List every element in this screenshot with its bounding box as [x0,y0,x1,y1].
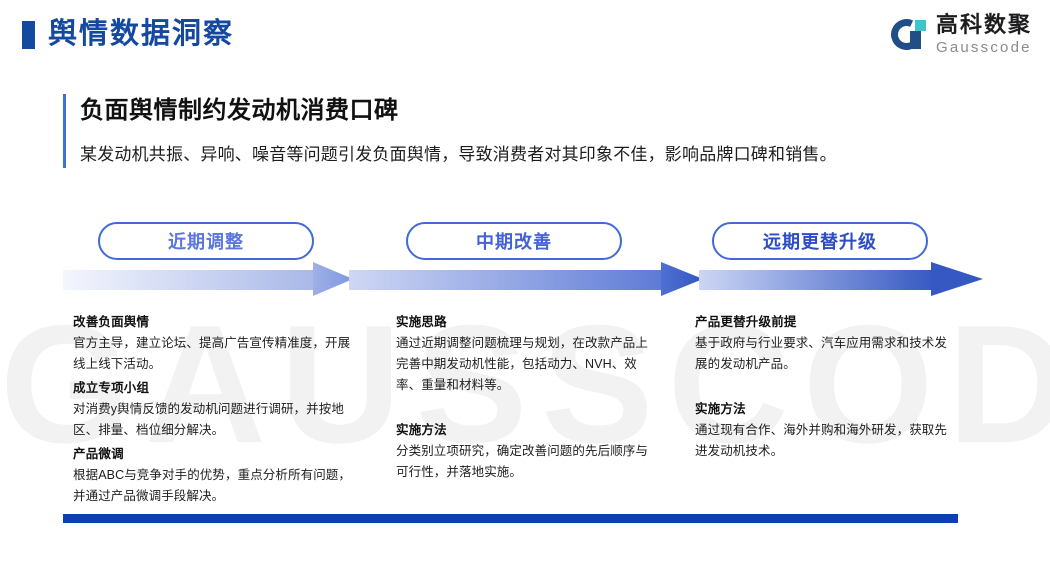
block-body: 官方主导，建立论坛、提高广告宣传精准度，开展线上线下活动。 [73,333,358,375]
block-body: 基于政府与行业要求、汽车应用需求和技术发展的发动机产品。 [695,333,957,375]
column-near-term: 改善负面舆情 官方主导，建立论坛、提高广告宣传精准度，开展线上线下活动。 成立专… [73,312,358,510]
content-block: 改善负面舆情 官方主导，建立论坛、提高广告宣传精准度，开展线上线下活动。 [73,312,358,375]
intro-heading: 负面舆情制约发动机消费口碑 [80,94,963,128]
content-block: 成立专项小组 对消费y舆情反馈的发动机问题进行调研，并按地区、排量、档位细分解决… [73,378,358,441]
slide-header: 舆情数据洞察 高科数聚 Gausscode [0,0,1050,74]
header-bullet-icon [22,21,35,49]
block-spacer [396,399,658,420]
block-title: 实施思路 [396,312,658,333]
block-body: 根据ABC与竞争对手的优势，重点分析所有问题，并通过产品微调手段解决。 [73,465,358,507]
block-spacer [695,378,957,399]
brand-logo-text: 高科数聚 Gausscode [936,14,1032,55]
block-body: 对消费y舆情反馈的发动机问题进行调研，并按地区、排量、档位细分解决。 [73,399,358,441]
brand-name-cn: 高科数聚 [936,14,1032,36]
content-block: 实施方法 分类别立项研究，确定改善问题的先后顺序与可行性，并落地实施。 [396,420,658,483]
brand-name-en: Gausscode [936,40,1032,55]
column-mid-term: 实施思路 通过近期调整问题梳理与规划，在改款产品上完善中期发动机性能，包括动力、… [396,312,658,486]
intro-subheading: 某发动机共振、异响、噪音等问题引发负面舆情，导致消费者对其印象不佳，影响品牌口碑… [80,142,963,168]
progress-arrow-graphic [63,262,983,296]
phase-pill-mid-term[interactable]: 中期改善 [406,222,622,260]
block-title: 改善负面舆情 [73,312,358,333]
logo-teal-square-shape [915,20,926,31]
logo-dark-square-shape [910,31,921,49]
intro-block: 负面舆情制约发动机消费口碑 某发动机共振、异响、噪音等问题引发负面舆情，导致消费… [63,94,963,168]
phase-pill-long-term[interactable]: 远期更替升级 [712,222,928,260]
block-title: 实施方法 [396,420,658,441]
block-title: 产品微调 [73,444,358,465]
column-long-term: 产品更替升级前提 基于政府与行业要求、汽车应用需求和技术发展的发动机产品。 实施… [695,312,957,465]
footer-accent-bar [63,514,958,523]
phase-pill-row: 近期调整 中期改善 远期更替升级 [0,222,1050,258]
content-block: 实施方法 通过现有合作、海外并购和海外研发，获取先进发动机技术。 [695,399,957,462]
block-body: 通过现有合作、海外并购和海外研发，获取先进发动机技术。 [695,420,957,462]
block-title: 产品更替升级前提 [695,312,957,333]
block-title: 成立专项小组 [73,378,358,399]
gausscode-logo-icon [891,17,927,53]
progress-arrow [63,262,983,296]
block-body: 通过近期调整问题梳理与规划，在改款产品上完善中期发动机性能，包括动力、NVH、效… [396,333,658,396]
content-block: 实施思路 通过近期调整问题梳理与规划，在改款产品上完善中期发动机性能，包括动力、… [396,312,658,396]
brand-logo: 高科数聚 Gausscode [891,14,1032,55]
block-body: 分类别立项研究，确定改善问题的先后顺序与可行性，并落地实施。 [396,441,658,483]
content-block: 产品更替升级前提 基于政府与行业要求、汽车应用需求和技术发展的发动机产品。 [695,312,957,375]
phase-pill-near-term[interactable]: 近期调整 [98,222,314,260]
page-title: 舆情数据洞察 [48,16,234,52]
content-block: 产品微调 根据ABC与竞争对手的优势，重点分析所有问题，并通过产品微调手段解决。 [73,444,358,507]
slide-canvas: GAUSSCODE 舆情数据洞察 高科数聚 Gausscode 负面舆情制约发动… [0,0,1050,588]
block-title: 实施方法 [695,399,957,420]
